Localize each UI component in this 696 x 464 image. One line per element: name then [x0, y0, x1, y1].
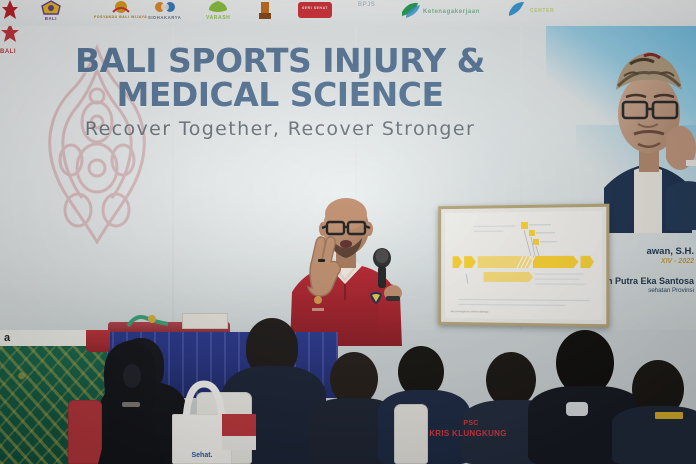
- logo-mark-icon: [207, 0, 229, 15]
- logo-item: Ketenagakerjaan: [400, 0, 480, 18]
- logo-item: [258, 0, 272, 21]
- logo-mark-icon: [258, 0, 272, 20]
- slide-flow-diagram: [445, 211, 602, 320]
- title-line-2: MEDICAL SCIENCE: [0, 78, 560, 112]
- shoulder-badge: [655, 412, 683, 419]
- logo-item: VARASH: [206, 0, 230, 21]
- tabletop-items: [126, 312, 170, 328]
- logo-mark-icon: [109, 0, 133, 15]
- screenshot-root: BALI BALI SPORTS INJURY & MEDICAL SCIENC…: [0, 0, 696, 464]
- face-mask: [566, 402, 588, 416]
- presentation-slide: alur penanganan cedera olahraga: [445, 211, 602, 320]
- event-tagline: Recover Together, Recover Stronger: [0, 118, 560, 140]
- logo-item: CENTER: [506, 0, 554, 18]
- chair-card-lower: [222, 436, 256, 450]
- logo-item: POSYANDU BALI WIJAYA: [94, 0, 147, 19]
- logo-item: [2, 0, 18, 21]
- logo-mark-icon: [2, 0, 18, 20]
- tabletop-box: [182, 313, 228, 329]
- logo-item: SIDHAKARYA: [148, 0, 181, 20]
- logo-caption: SIDHAKARYA: [148, 16, 181, 20]
- tote-bag-label: Sehat.: [176, 452, 228, 459]
- logo-caption: CENTER: [530, 9, 554, 14]
- page-title: BALI SPORTS INJURY & MEDICAL SCIENCE: [0, 44, 560, 112]
- speaker-presenter: [282, 196, 408, 346]
- vest-text-line-1: PSC: [436, 420, 506, 428]
- audience-body: [612, 406, 696, 464]
- logo-caption: BPJS: [358, 2, 375, 8]
- logo-caption: SERI SEHAT: [302, 7, 328, 10]
- logo-caption: BALI: [45, 17, 57, 21]
- secondary-portrait: [666, 120, 696, 230]
- logo-mark-icon: [152, 0, 178, 15]
- presentation-screen: alur penanganan cedera olahraga: [438, 204, 609, 328]
- logo-caption: VARASH: [206, 16, 230, 21]
- chair-card: [222, 414, 256, 438]
- logo-mark-icon: [40, 0, 62, 16]
- logo-item: SERI SEHAT: [298, 2, 332, 10]
- logo-item: BALI: [40, 0, 62, 21]
- logo-item: BPJS: [358, 1, 375, 8]
- logo-caption: Ketenagakerjaan: [423, 9, 480, 15]
- side-sign-text: a: [0, 330, 96, 346]
- side-white-sign: a: [0, 330, 96, 346]
- chair: [394, 404, 428, 464]
- logo-caption: POSYANDU BALI WIJAYA: [94, 16, 147, 19]
- audience-hijab-figure: [96, 336, 168, 464]
- logo-mark-icon: [400, 0, 420, 18]
- sponsor-logo-strip: BALI POSYANDU BALI WIJAYA SIDHAKARYA VAR…: [0, 0, 696, 26]
- logo-mark-icon: [506, 0, 526, 18]
